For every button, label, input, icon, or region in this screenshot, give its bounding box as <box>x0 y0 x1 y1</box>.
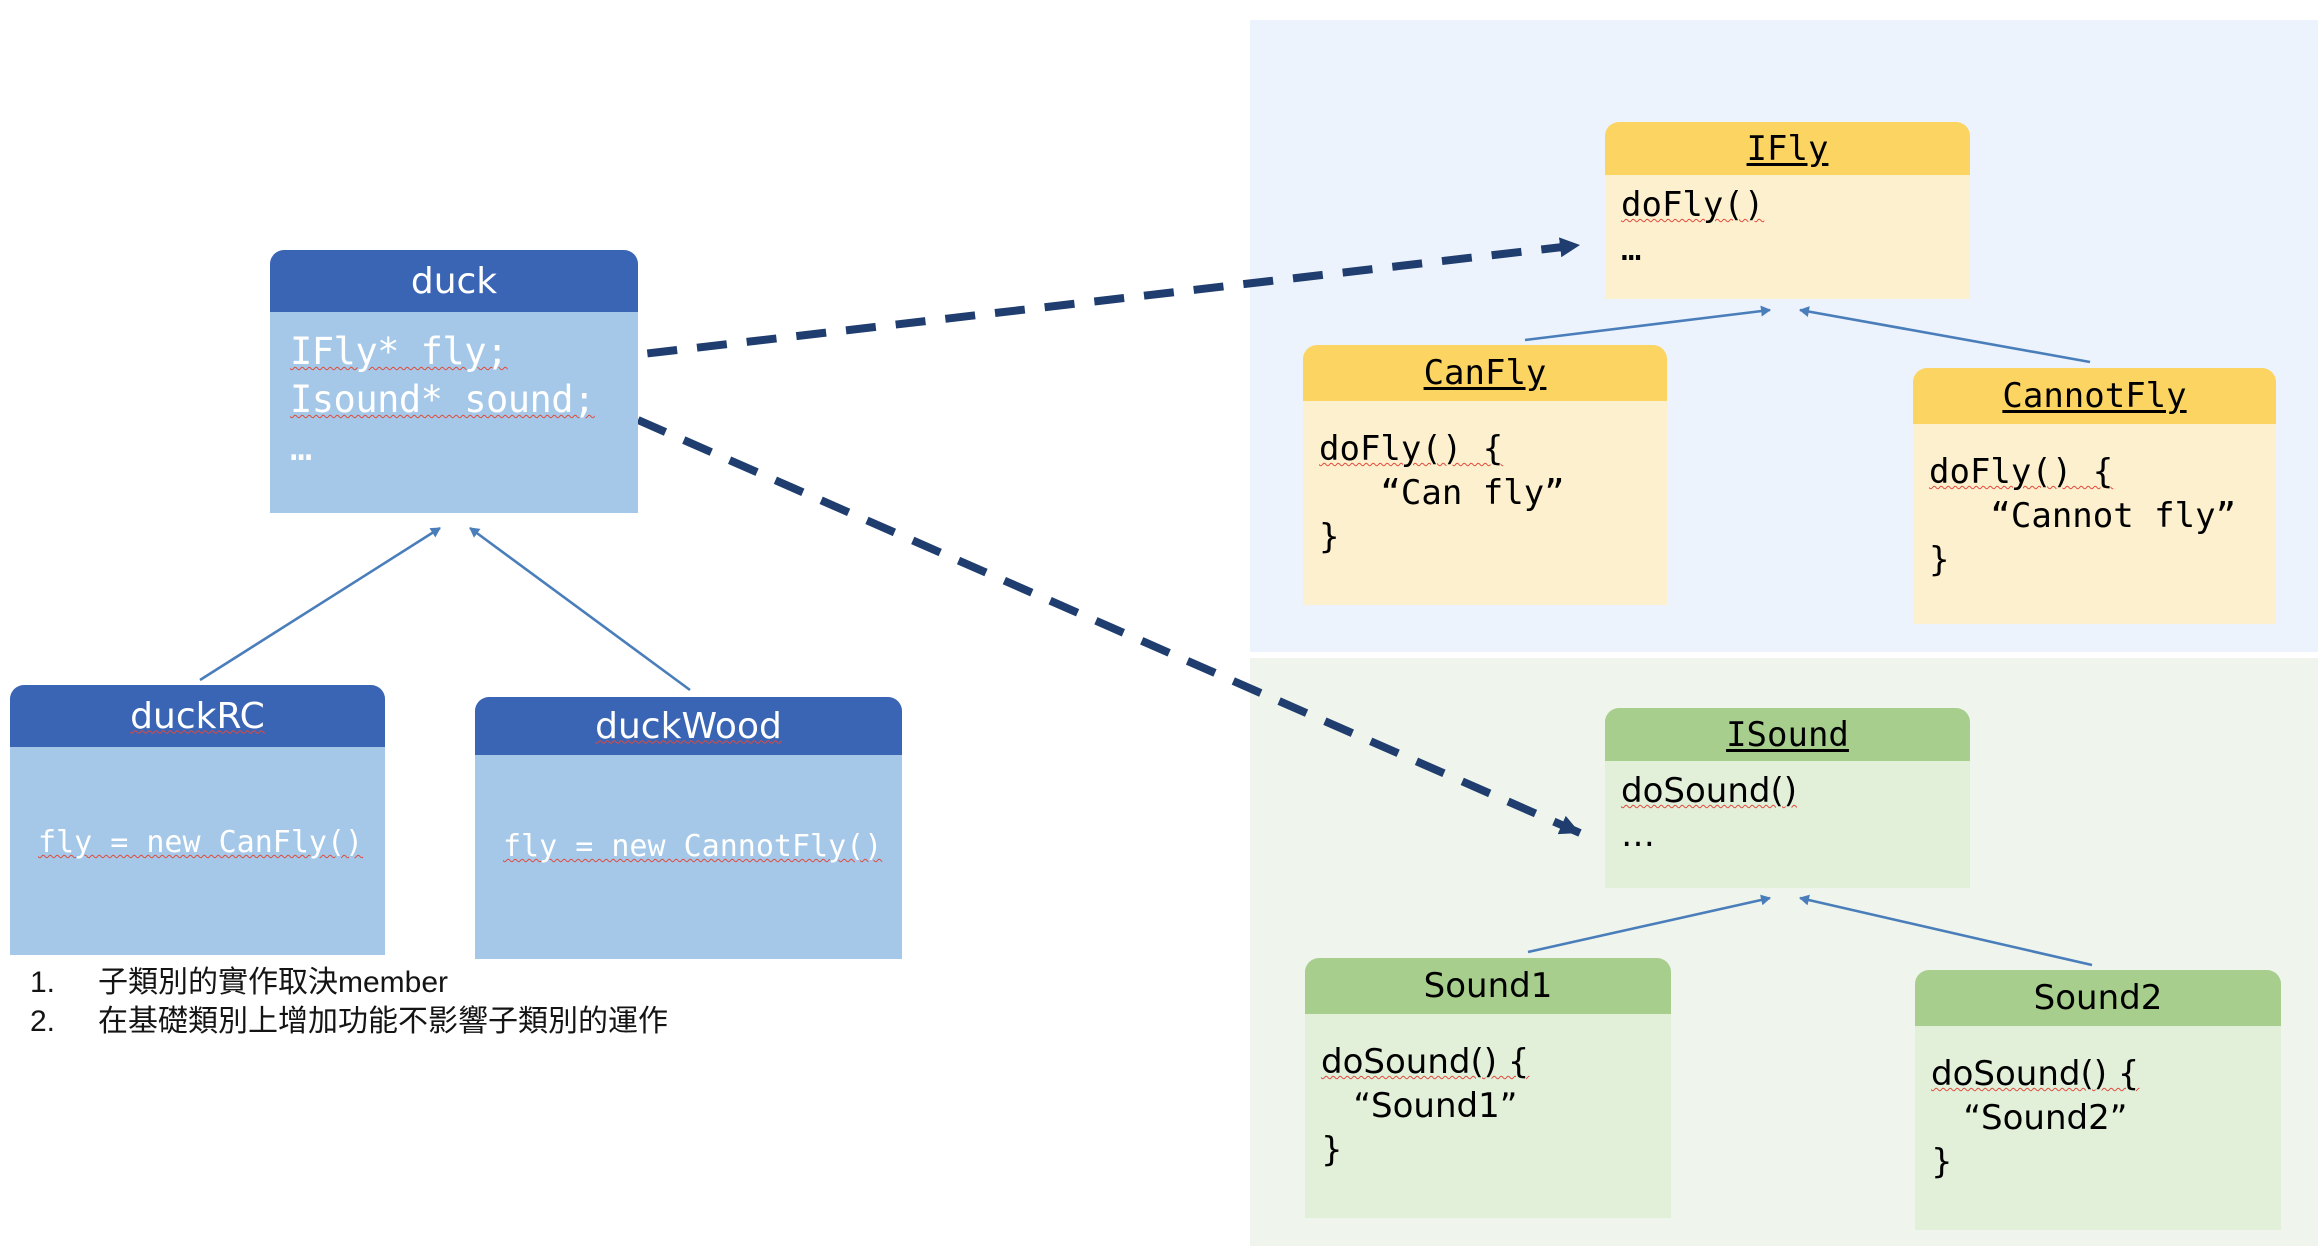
member-isound-sound: Isound* sound; <box>290 378 595 421</box>
class-box-canfly[interactable]: CanFly doFly() { “Can fly”} <box>1303 345 1667 605</box>
class-members-isound: doSound()… <box>1605 761 1970 888</box>
class-box-duckwood[interactable]: duckWood fly = new CannotFly() <box>475 697 902 959</box>
class-members-duckrc: fly = new CanFly() <box>10 747 385 955</box>
member-ellipsis-ifly: … <box>1621 229 1641 269</box>
class-title-isound: ISound <box>1605 708 1970 761</box>
class-box-isound[interactable]: ISound doSound()… <box>1605 708 1970 888</box>
member-canfly-string: “Can fly” <box>1319 473 1565 513</box>
class-box-ifly[interactable]: IFly doFly()… <box>1605 122 1970 299</box>
diagram-canvas: duck IFly* fly;Isound* sound;… duckRC fl… <box>0 0 2318 1258</box>
member-dofly-close-canfly: } <box>1319 517 1339 557</box>
class-members-ifly: doFly()… <box>1605 175 1970 299</box>
member-dofly-open-canfly: doFly() { <box>1319 429 1503 469</box>
member-ellipsis-isound: … <box>1621 815 1655 855</box>
member-dofly-open-cannotfly: doFly() { <box>1929 452 2113 492</box>
class-title-sound2: Sound2 <box>1915 970 2281 1026</box>
member-dosound-open-sound1: doSound() { <box>1321 1042 1529 1082</box>
class-box-duck[interactable]: duck IFly* fly;Isound* sound;… <box>270 250 638 513</box>
note-item: 2. 在基礎類別上增加功能不影響子類別的運作 <box>30 1002 850 1041</box>
member-sound1-string: “Sound1” <box>1321 1086 1517 1126</box>
class-title-duckrc: duckRC <box>10 685 385 747</box>
class-title-duckwood: duckWood <box>475 697 902 755</box>
member-cannotfly-string: “Cannot fly” <box>1929 496 2236 536</box>
member-fly-new-cannotfly: fly = new CannotFly() <box>503 829 882 864</box>
member-dosound-isound: doSound() <box>1621 771 1797 811</box>
connector-canfly-to-ifly <box>1525 310 1770 340</box>
connector-duckrc-to-duck <box>200 528 440 680</box>
note-item: 1. 子類別的實作取決member <box>30 963 850 1002</box>
class-box-duckrc[interactable]: duckRC fly = new CanFly() <box>10 685 385 955</box>
class-box-sound2[interactable]: Sound2 doSound() { “Sound2”} <box>1915 970 2281 1230</box>
class-members-sound2: doSound() { “Sound2”} <box>1915 1026 2281 1230</box>
class-members-canfly: doFly() { “Can fly”} <box>1303 401 1667 605</box>
notes-list: 1. 子類別的實作取決member 2. 在基礎類別上增加功能不影響子類別的運作 <box>30 963 850 1041</box>
class-title-sound1: Sound1 <box>1305 958 1671 1014</box>
member-ifly-fly: IFly* fly; <box>290 330 508 373</box>
note-text: 子類別的實作取決member <box>98 963 448 1002</box>
class-title-canfly: CanFly <box>1303 345 1667 401</box>
member-dofly-close-cannotfly: } <box>1929 540 1949 580</box>
class-box-cannotfly[interactable]: CannotFly doFly() { “Cannot fly”} <box>1913 368 2276 624</box>
connector-cannotfly-to-ifly <box>1800 310 2090 362</box>
connector-sound2-to-isound <box>1800 898 2092 965</box>
member-fly-new-canfly: fly = new CanFly() <box>38 825 363 860</box>
member-sound2-string: “Sound2” <box>1931 1098 2127 1138</box>
connector-sound1-to-isound <box>1528 898 1770 952</box>
class-members-cannotfly: doFly() { “Cannot fly”} <box>1913 424 2276 624</box>
note-number: 2. <box>30 1002 98 1041</box>
class-members-sound1: doSound() { “Sound1”} <box>1305 1014 1671 1218</box>
member-ellipsis-duck: … <box>290 426 312 469</box>
member-dofly-ifly: doFly() <box>1621 185 1764 225</box>
connector-duckwood-to-duck <box>470 528 690 690</box>
note-text: 在基礎類別上增加功能不影響子類別的運作 <box>98 1002 668 1041</box>
member-dosound-close-sound2: } <box>1931 1142 1953 1182</box>
class-members-duckwood: fly = new CannotFly() <box>475 755 902 959</box>
note-number: 1. <box>30 963 98 1002</box>
class-title-cannotfly: CannotFly <box>1913 368 2276 424</box>
class-box-sound1[interactable]: Sound1 doSound() { “Sound1”} <box>1305 958 1671 1218</box>
member-dosound-open-sound2: doSound() { <box>1931 1054 2139 1094</box>
class-members-duck: IFly* fly;Isound* sound;… <box>270 312 638 513</box>
member-dosound-close-sound1: } <box>1321 1130 1343 1170</box>
class-title-ifly: IFly <box>1605 122 1970 175</box>
class-title-duck: duck <box>270 250 638 312</box>
